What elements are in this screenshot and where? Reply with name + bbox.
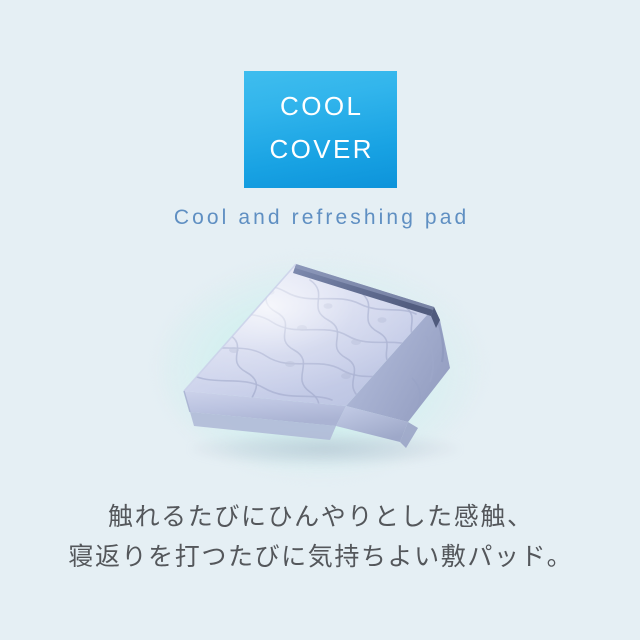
product-image: [150, 250, 490, 485]
description-line-2: 寝返りを打つたびに気持ちよい敷パッド。: [0, 537, 640, 577]
badge-line-cool: COOL: [278, 85, 364, 127]
description-text: 触れるたびにひんやりとした感触、 寝返りを打つたびに気持ちよい敷パッド。: [0, 497, 640, 577]
quilted-pad-illustration: [150, 250, 490, 485]
badge-line-cover: COVER: [267, 128, 374, 170]
subtitle-text: Cool and refreshing pad: [0, 206, 640, 230]
description-line-1: 触れるたびにひんやりとした感触、: [0, 497, 640, 537]
brand-badge: COOL COVER: [244, 71, 397, 188]
product-promo-card: COOL COVER Cool and refreshing pad: [0, 0, 640, 640]
